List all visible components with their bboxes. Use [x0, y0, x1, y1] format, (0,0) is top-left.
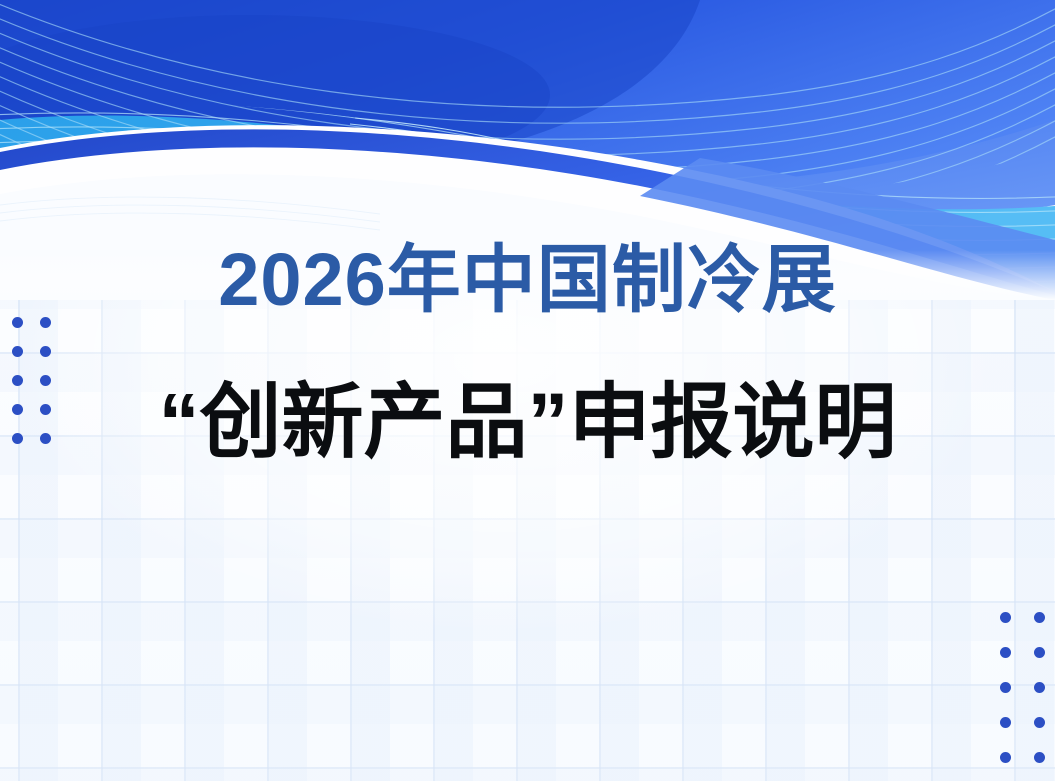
decor-dot — [1034, 752, 1045, 763]
dot-grid-right — [1000, 612, 1045, 763]
decor-dot — [1000, 612, 1011, 623]
headline-primary: 2026年中国制冷展 — [0, 232, 1055, 328]
decor-dot — [1034, 612, 1045, 623]
decor-dot — [1000, 752, 1011, 763]
decor-dot — [1034, 682, 1045, 693]
decor-dot — [1000, 647, 1011, 658]
decor-dot — [1034, 647, 1045, 658]
decor-dot — [1000, 717, 1011, 728]
headline-block: 2026年中国制冷展 “创新产品”申报说明 — [0, 232, 1055, 473]
decor-dot — [1000, 682, 1011, 693]
poster-canvas: 2026年中国制冷展 “创新产品”申报说明 — [0, 0, 1055, 781]
headline-secondary: “创新产品”申报说明 — [0, 373, 1055, 473]
decor-dot — [1034, 717, 1045, 728]
